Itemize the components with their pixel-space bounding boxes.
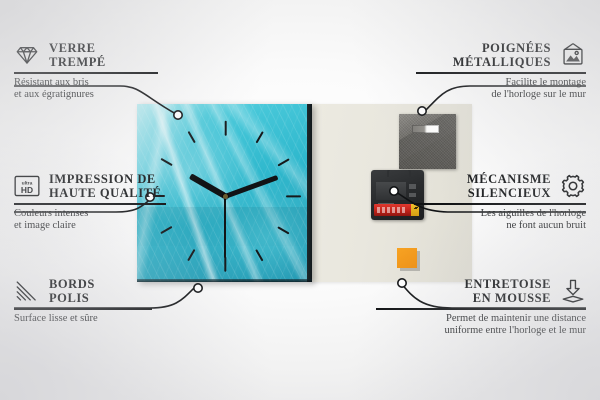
clock-tick xyxy=(286,195,301,197)
callout-description: Les aiguilles de l'horloge ne font aucun… xyxy=(414,208,586,232)
callout-bords-polis: BORDS POLIS Surface lisse et sûre xyxy=(14,277,166,325)
callout-head: BORDS POLIS xyxy=(14,277,166,305)
clock-center-hub xyxy=(223,194,228,199)
clock-tick xyxy=(187,249,196,261)
clock-tick xyxy=(255,131,264,143)
clock-tick xyxy=(278,158,290,167)
clock-tick xyxy=(224,256,226,271)
svg-text:HD: HD xyxy=(21,185,33,195)
clock-tick xyxy=(160,158,172,167)
callout-rule xyxy=(376,308,586,310)
hanger-plate xyxy=(399,114,456,169)
callout-description: Permet de maintenir une distance uniform… xyxy=(376,313,586,337)
foam-spacer xyxy=(397,248,417,268)
callout-description: Surface lisse et sûre xyxy=(14,313,166,325)
callout-description: Couleurs intenses et image claire xyxy=(14,208,182,232)
callout-head: MÉCANISME SILENCIEUX xyxy=(414,172,586,200)
callout-impression-haute-qualite: ultra HD IMPRESSION DE HAUTE QUALITÉ Cou… xyxy=(14,172,182,232)
callout-title: BORDS POLIS xyxy=(49,277,95,305)
mechanism-label xyxy=(376,182,406,200)
clock-tick xyxy=(278,226,290,235)
polished-edges-icon xyxy=(14,278,40,304)
callout-title: IMPRESSION DE HAUTE QUALITÉ xyxy=(49,172,161,200)
callout-head: ultra HD IMPRESSION DE HAUTE QUALITÉ xyxy=(14,172,182,200)
battery xyxy=(374,204,419,216)
clock-hand-second xyxy=(224,196,226,258)
callout-head: VERRE TREMPÉ xyxy=(14,41,172,69)
battery-print xyxy=(377,207,407,213)
clock-tick xyxy=(187,131,196,143)
callout-rule xyxy=(14,308,152,310)
callout-rule xyxy=(14,203,166,205)
gear-icon xyxy=(560,173,586,199)
callout-mecanisme-silencieux: MÉCANISME SILENCIEUX Les aiguilles de l'… xyxy=(414,172,586,232)
callout-rule xyxy=(14,72,158,74)
callout-title: POIGNÉES MÉTALLIQUES xyxy=(453,41,551,69)
callout-verre-trempe: VERRE TREMPÉ Résistant aux bris et aux é… xyxy=(14,41,172,101)
metal-grain-texture xyxy=(399,114,456,169)
picture-frame-icon xyxy=(560,42,586,68)
mechanism-hook xyxy=(387,170,411,177)
clock-tick xyxy=(255,249,264,261)
clock-tick xyxy=(224,120,226,135)
ultra-hd-icon: ultra HD xyxy=(14,173,40,199)
connector-node-bords-polis xyxy=(194,284,202,292)
callout-rule xyxy=(414,203,586,205)
glass-edge-right xyxy=(307,104,312,282)
callout-title: MÉCANISME SILENCIEUX xyxy=(467,172,551,200)
clock-hand-minute xyxy=(224,174,278,198)
callout-title: VERRE TREMPÉ xyxy=(49,41,106,69)
callout-poignees-metalliques: POIGNÉES MÉTALLIQUES Facilite le montage… xyxy=(416,41,586,101)
callout-rule xyxy=(416,72,586,74)
diamond-icon xyxy=(14,42,40,68)
spacer-arrow-icon xyxy=(560,278,586,304)
callout-title: ENTRETOISE EN MOUSSE xyxy=(464,277,551,305)
callout-entretoise-en-mousse: ENTRETOISE EN MOUSSE Permet de maintenir… xyxy=(376,277,586,337)
callout-head: POIGNÉES MÉTALLIQUES xyxy=(416,41,586,69)
infographic-canvas: VERRE TREMPÉ Résistant aux bris et aux é… xyxy=(0,0,600,400)
callout-head: ENTRETOISE EN MOUSSE xyxy=(376,277,586,305)
hanger-slot xyxy=(412,125,439,133)
callout-description: Résistant aux bris et aux égratignures xyxy=(14,77,172,101)
callout-description: Facilite le montage de l'horloge sur le … xyxy=(416,77,586,101)
clock-hand-hour xyxy=(189,173,227,198)
